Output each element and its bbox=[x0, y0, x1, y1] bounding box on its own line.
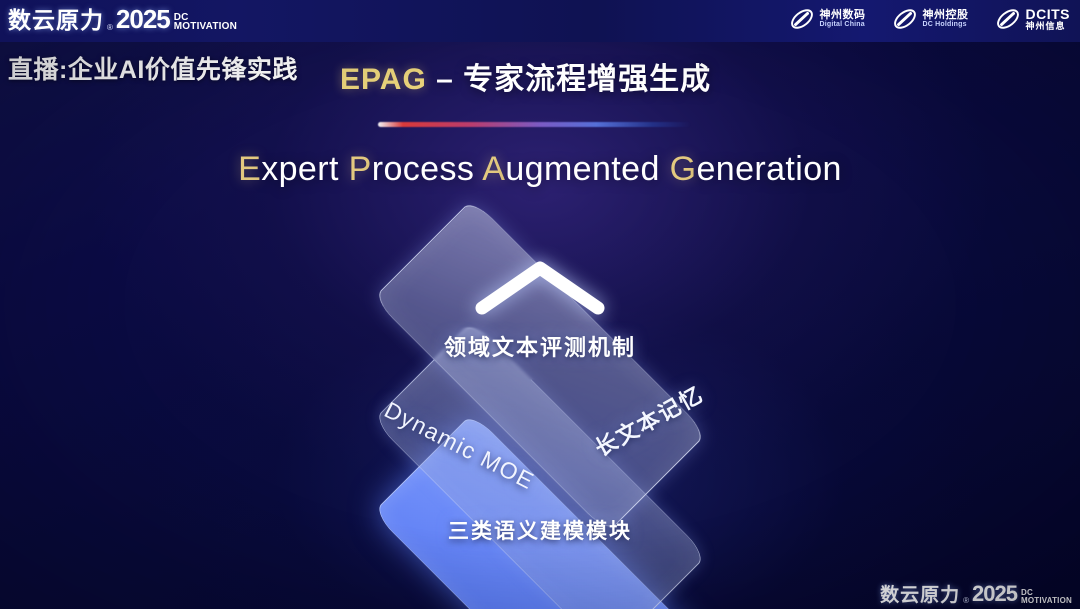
english-subtitle-part-6: G bbox=[670, 150, 697, 188]
corp-name-en: DC Holdings bbox=[923, 21, 969, 28]
corp-name-en: Digital China bbox=[820, 21, 866, 28]
english-subtitle-part-5: ugmented bbox=[505, 150, 669, 188]
corp-logo-dc-holdings: 神州控股 DC Holdings bbox=[892, 7, 969, 31]
title-divider bbox=[378, 122, 690, 127]
event-logo-year: 2025 bbox=[116, 6, 170, 32]
diagram-label-bottom: 三类语义建模模块 bbox=[448, 515, 632, 545]
page-title-acronym: EPAG bbox=[340, 63, 427, 96]
corp-name-en: 神州信息 bbox=[1026, 22, 1071, 31]
chevron-up-icon bbox=[474, 258, 606, 316]
english-subtitle-part-3: rocess bbox=[372, 150, 483, 188]
english-subtitle-part-4: A bbox=[482, 150, 505, 188]
english-subtitle: Expert Process Augmented Generation bbox=[0, 150, 1080, 189]
corp-logo-text: DCITS 神州信息 bbox=[1026, 7, 1071, 31]
corp-logo-dcits: DCITS 神州信息 bbox=[995, 7, 1071, 31]
watermark-logo-motivation: MOTIVATION bbox=[1021, 597, 1072, 604]
english-subtitle-part-1: xpert bbox=[261, 150, 348, 188]
corp-logo-text: 神州数码 Digital China bbox=[820, 10, 866, 29]
english-subtitle-part-7: eneration bbox=[696, 150, 841, 188]
english-subtitle-part-2: P bbox=[349, 150, 372, 188]
spiral-mark-icon bbox=[789, 7, 815, 31]
spiral-mark-icon bbox=[892, 7, 918, 31]
corp-name-cn: 神州控股 bbox=[923, 10, 969, 22]
isometric-stack-diagram: 领域文本评测机制 Dynamic MOE 长文本记忆 三类语义建模模块 bbox=[0, 190, 1080, 590]
registered-mark-icon: ® bbox=[107, 24, 113, 32]
event-logo: 数云原力 ® 2025 DC MOTIVATION bbox=[8, 6, 237, 32]
slide-canvas: 数云原力 ® 2025 DC MOTIVATION 神州数码 Digital C… bbox=[0, 0, 1080, 609]
watermark-logo-year: 2025 bbox=[972, 583, 1017, 605]
page-title-rest: – 专家流程增强生成 bbox=[427, 63, 711, 96]
corp-name-cn: 神州数码 bbox=[820, 10, 866, 22]
livestream-title: 直播:企业AI价值先锋实践 bbox=[8, 50, 298, 86]
corp-logo-text: 神州控股 DC Holdings bbox=[923, 10, 969, 29]
corp-logo-digital-china: 神州数码 Digital China bbox=[789, 7, 866, 31]
event-logo-motivation: MOTIVATION bbox=[174, 22, 237, 31]
corp-name-cn: DCITS bbox=[1026, 7, 1071, 22]
corporate-logo-group: 神州数码 Digital China 神州控股 DC Holdings bbox=[789, 7, 1071, 31]
watermark-logo: 数云原力 ® 2025 DC MOTIVATION bbox=[880, 583, 1072, 605]
watermark-logo-cn: 数云原力 bbox=[880, 586, 960, 605]
registered-mark-icon: ® bbox=[963, 597, 969, 605]
top-banner: 数云原力 ® 2025 DC MOTIVATION 神州数码 Digital C… bbox=[0, 0, 1080, 42]
english-subtitle-part-0: E bbox=[238, 150, 261, 188]
page-title: EPAG – 专家流程增强生成 bbox=[340, 54, 711, 98]
event-logo-dc-motivation: DC MOTIVATION bbox=[174, 13, 237, 32]
spiral-mark-icon bbox=[995, 7, 1021, 31]
diagram-label-top: 领域文本评测机制 bbox=[444, 330, 636, 362]
watermark-logo-dc-motivation: DC MOTIVATION bbox=[1021, 589, 1072, 605]
event-logo-cn: 数云原力 bbox=[8, 9, 104, 32]
